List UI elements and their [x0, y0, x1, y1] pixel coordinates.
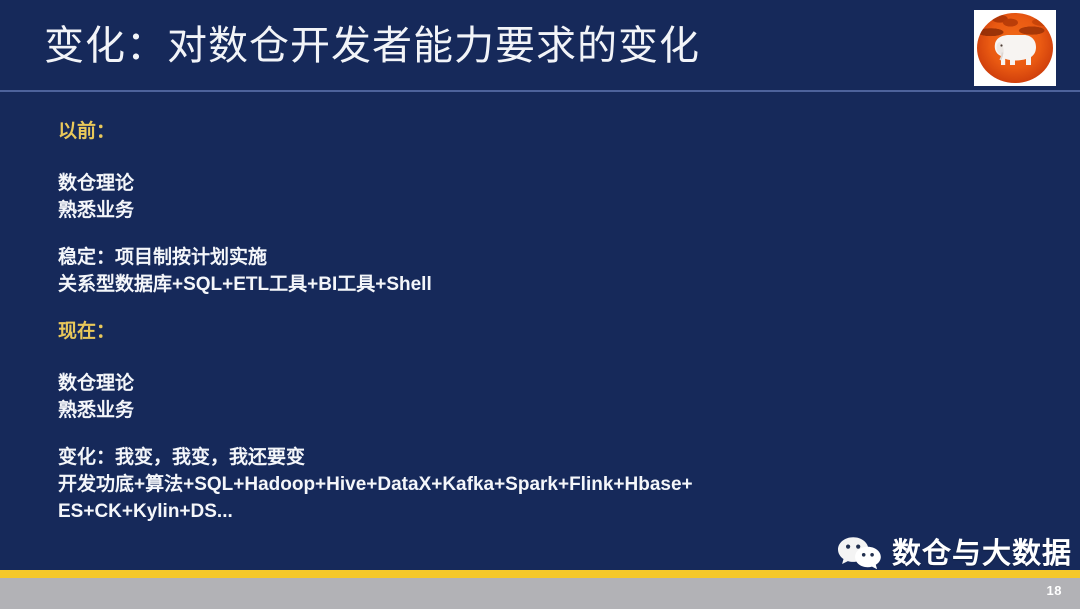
- hadoop-elephant-logo: [974, 10, 1056, 86]
- footer-accent-bar: [0, 570, 1080, 578]
- spacer: [58, 424, 958, 444]
- block-heading-before: 以前：: [58, 118, 958, 146]
- spacer: [58, 224, 958, 244]
- logo-circle-badge: [977, 13, 1053, 83]
- slide-body: 以前： 数仓理论 熟悉业务 稳定：项目制按计划实施 关系型数据库+SQL+ETL…: [58, 118, 958, 525]
- title-separator-rule: [0, 90, 1080, 92]
- content-block-before: 以前： 数仓理论 熟悉业务 稳定：项目制按计划实施 关系型数据库+SQL+ETL…: [58, 118, 958, 298]
- spacer: [58, 298, 958, 318]
- before-line-2: 熟悉业务: [58, 197, 958, 224]
- elephant-icon: [991, 32, 1039, 66]
- page-number: 18: [1047, 583, 1062, 598]
- block-heading-now: 现在：: [58, 318, 958, 346]
- spacer: [58, 146, 958, 170]
- now-line-2: 熟悉业务: [58, 397, 958, 424]
- page-title: 变化：对数仓开发者能力要求的变化: [44, 20, 700, 72]
- now-line-4: 开发功底+算法+SQL+Hadoop+Hive+DataX+Kafka+Spar…: [58, 471, 958, 498]
- now-line-5: ES+CK+Kylin+DS...: [58, 498, 958, 525]
- slide-title-bar: 变化：对数仓开发者能力要求的变化: [0, 0, 1080, 90]
- now-line-3: 变化：我变，我变，我还要变: [58, 444, 958, 471]
- wechat-icon: [836, 534, 884, 574]
- now-line-1: 数仓理论: [58, 370, 958, 397]
- footer-bar: [0, 578, 1080, 609]
- spacer: [58, 346, 958, 370]
- wechat-watermark: 数仓与大数据: [836, 534, 1072, 574]
- wechat-account-name: 数仓与大数据: [892, 534, 1072, 574]
- presentation-slide: 变化：对数仓开发者能力要求的变化 以前： 数仓理论 熟悉业务 稳定：项目制按计划…: [0, 0, 1080, 609]
- content-block-now: 现在： 数仓理论 熟悉业务 变化：我变，我变，我还要变 开发功底+算法+SQL+…: [58, 318, 958, 525]
- before-line-4: 关系型数据库+SQL+ETL工具+BI工具+Shell: [58, 271, 958, 298]
- before-line-3: 稳定：项目制按计划实施: [58, 244, 958, 271]
- before-line-1: 数仓理论: [58, 170, 958, 197]
